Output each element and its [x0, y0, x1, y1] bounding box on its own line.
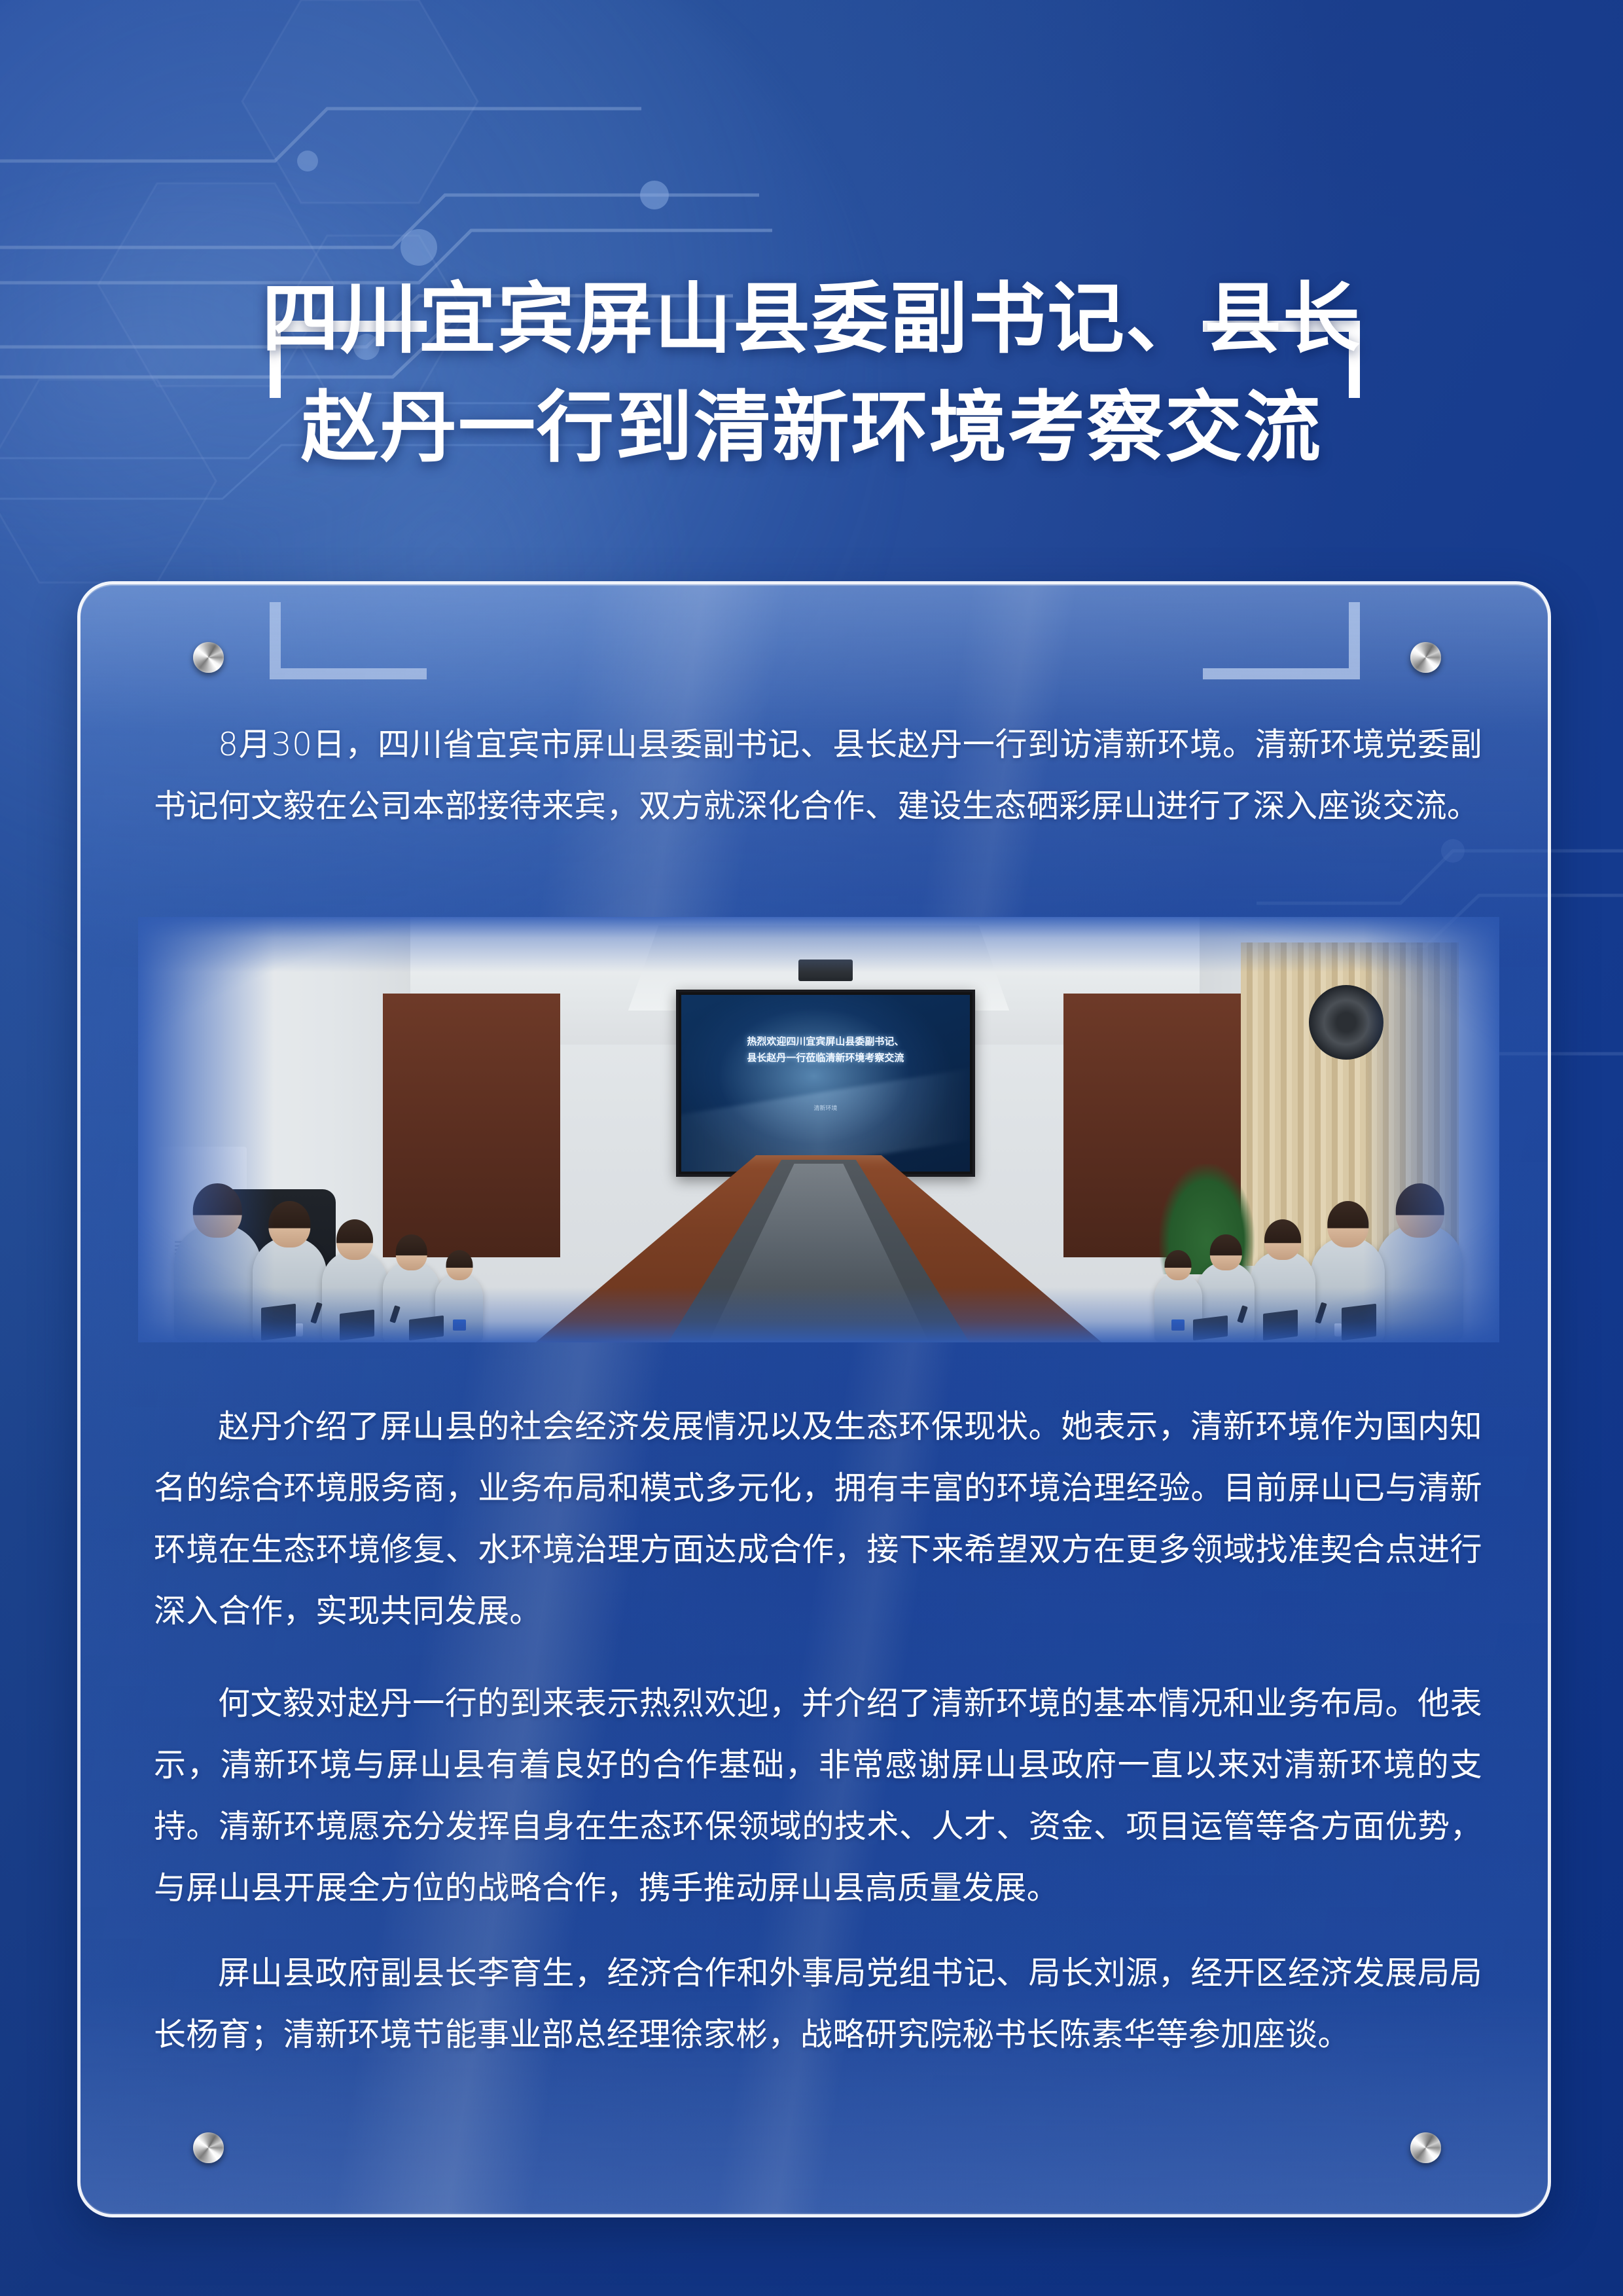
poster-title-line-2: 赵丹一行到清新环境考察交流 — [0, 373, 1623, 482]
photo-attendee-head — [193, 1183, 242, 1238]
poster-title: 四川宜宾屏山县委副书记、县长 赵丹一行到清新环境考察交流 — [0, 152, 1623, 482]
meeting-photo-scene: 热烈欢迎四川宜宾屏山县委副书记、 县长赵丹一行莅临清新环境考察交流 清新环境 — [138, 917, 1499, 1342]
photo-attendees-left — [166, 1151, 601, 1343]
poster-title-line-1: 四川宜宾屏山县委副书记、县长 — [0, 152, 1623, 373]
photo-projection-screen: 热烈欢迎四川宜宾屏山县委副书记、 县长赵丹一行莅临清新环境考察交流 清新环境 — [676, 990, 976, 1177]
photo-attendee-head — [1395, 1183, 1444, 1238]
photo-attendee-head — [1264, 1219, 1301, 1261]
photo-laptop — [1193, 1316, 1228, 1341]
content-card: 8月30日，四川省宜宾市屏山县委副书记、县长赵丹一行到访清新环境。清新环境党委副… — [77, 581, 1551, 2217]
article-paragraph-2: 赵丹介绍了屏山县的社会经济发展情况以及生态环保现状。她表示，清新环境作为国内知名… — [154, 1396, 1482, 1642]
photo-screen-subline: 清新环境 — [698, 1104, 953, 1114]
photo-screen-welcome-line-2: 县长赵丹一行莅临清新环境考察交流 — [747, 1052, 904, 1064]
article-paragraph-4: 屏山县政府副县长李育生，经济合作和外事局党组书记、局长刘源，经开区经济发展局局长… — [154, 1943, 1482, 2066]
photo-attendee-head — [446, 1250, 473, 1280]
photo-screen-welcome-line-1: 热烈欢迎四川宜宾屏山县委副书记、 — [747, 1035, 904, 1047]
photo-laptop — [261, 1304, 296, 1340]
title-zone: 四川宜宾屏山县委副书记、县长 赵丹一行到清新环境考察交流 — [0, 152, 1623, 551]
photo-laptop — [1342, 1304, 1376, 1340]
photo-screen-welcome-text: 热烈欢迎四川宜宾屏山县委副书记、 县长赵丹一行莅临清新环境考察交流 — [698, 1033, 953, 1066]
article-paragraph-1: 8月30日，四川省宜宾市屏山县委副书记、县长赵丹一行到访清新环境。清新环境党委副… — [154, 714, 1482, 837]
poster-root: 四川宜宾屏山县委副书记、县长 赵丹一行到清新环境考察交流 8月30日，四川省宜宾… — [0, 0, 1623, 2296]
photo-attendee-head — [1327, 1201, 1368, 1247]
photo-attendee-head — [395, 1234, 427, 1270]
photo-laptop — [1263, 1310, 1298, 1340]
photo-laptop — [340, 1310, 374, 1340]
photo-attendee-head — [269, 1201, 310, 1247]
photo-projector — [798, 960, 853, 981]
photo-wall-fan — [1309, 985, 1383, 1060]
photo-attendee-head — [1210, 1234, 1241, 1270]
photo-water-bottle — [1334, 1323, 1342, 1336]
photo-attendees-right — [1037, 1151, 1472, 1343]
photo-laptop — [409, 1316, 444, 1341]
photo-projection-screen-surface: 热烈欢迎四川宜宾屏山县委副书记、 县长赵丹一行莅临清新环境考察交流 清新环境 — [681, 995, 971, 1172]
photo-attendee — [174, 1224, 261, 1342]
photo-attendee — [1376, 1224, 1463, 1342]
photo-tissue-box — [1171, 1319, 1185, 1331]
article-paragraph-3: 何文毅对赵丹一行的到来表示热烈欢迎，并介绍了清新环境的基本情况和业务布局。他表示… — [154, 1673, 1482, 1919]
photo-water-bottle — [296, 1323, 303, 1336]
photo-attendee-head — [1165, 1250, 1192, 1280]
card-content: 8月30日，四川省宜宾市屏山县委副书记、县长赵丹一行到访清新环境。清新环境党委副… — [80, 584, 1551, 2217]
photo-screen-light-streak — [681, 1061, 971, 1171]
photo-tissue-box — [453, 1319, 466, 1331]
photo-attendee-head — [336, 1219, 373, 1261]
meeting-photo: 热烈欢迎四川宜宾屏山县委副书记、 县长赵丹一行莅临清新环境考察交流 清新环境 — [138, 917, 1499, 1342]
